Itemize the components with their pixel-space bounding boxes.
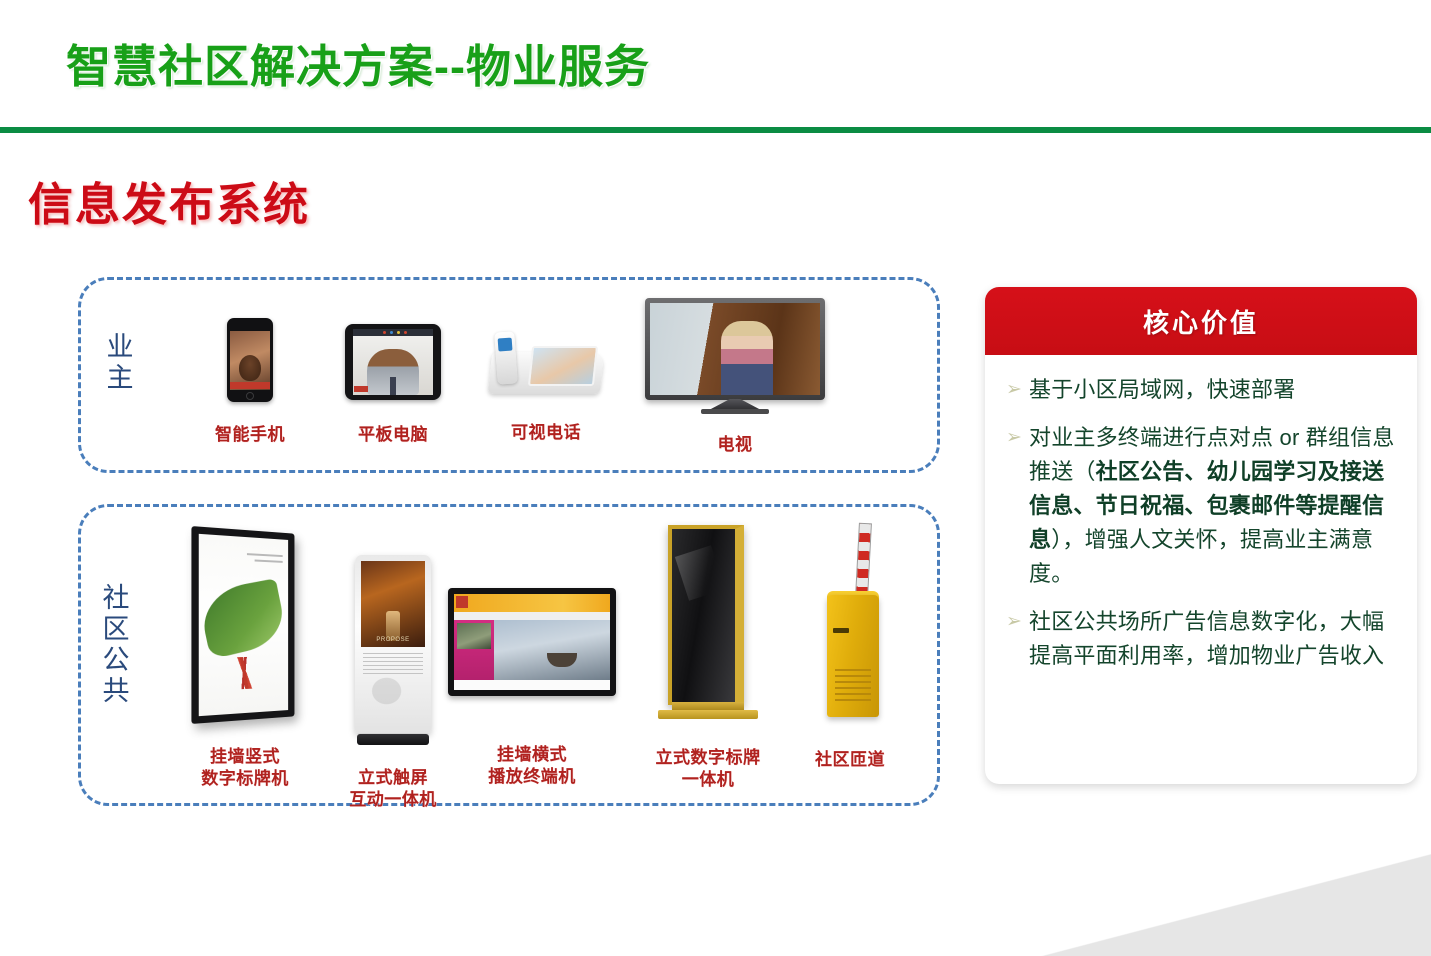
value-bullet-2: ➢ 对业主多终端进行点对点 or 群组信息推送（社区公告、幼儿园学习及接送信息、… bbox=[999, 421, 1395, 591]
television-icon bbox=[645, 298, 825, 414]
bullet-arrow-icon: ➢ bbox=[999, 373, 1029, 407]
device-videophone[interactable]: 可视电话 bbox=[482, 322, 610, 444]
corner-decoration bbox=[1011, 846, 1431, 956]
device-caption: 挂墙横式 播放终端机 bbox=[444, 744, 620, 788]
value-bullet-text: 对业主多终端进行点对点 or 群组信息推送（社区公告、幼儿园学习及接送信息、节日… bbox=[1029, 421, 1395, 591]
title-divider bbox=[0, 127, 1431, 133]
device-wall-vertical-signage[interactable]: 挂墙竖式 数字标牌机 bbox=[183, 530, 307, 790]
value-bullet-text: 基于小区局域网，快速部署 bbox=[1029, 373, 1395, 407]
bullet-arrow-icon: ➢ bbox=[999, 605, 1029, 639]
device-caption: 挂墙竖式 数字标牌机 bbox=[183, 746, 307, 790]
core-value-header: 核心价值 bbox=[985, 287, 1417, 355]
wall-horizontal-player-icon bbox=[448, 588, 616, 706]
bullet-arrow-icon: ➢ bbox=[999, 421, 1029, 455]
device-smartphone[interactable]: 智能手机 bbox=[196, 318, 304, 446]
smartphone-icon bbox=[227, 318, 273, 402]
videophone-icon bbox=[486, 322, 606, 400]
wall-vertical-signage-icon bbox=[186, 530, 304, 730]
device-caption: 电视 bbox=[645, 434, 825, 456]
core-value-body: ➢ 基于小区局域网，快速部署 ➢ 对业主多终端进行点对点 or 群组信息推送（社… bbox=[985, 355, 1417, 784]
device-television[interactable]: 电视 bbox=[645, 298, 825, 456]
device-caption: 平板电脑 bbox=[338, 424, 448, 446]
barrier-gate-icon bbox=[805, 525, 895, 725]
device-tablet[interactable]: 平板电脑 bbox=[338, 324, 448, 446]
device-caption: 可视电话 bbox=[482, 422, 610, 444]
slide-canvas: 智慧社区解决方案--物业服务 信息发布系统 业 主 智能手机 bbox=[0, 0, 1431, 956]
value-bullet-text: 社区公共场所广告信息数字化，大幅提高平面利用率，增加物业广告收入 bbox=[1029, 605, 1395, 673]
value-bullet-1: ➢ 基于小区局域网，快速部署 bbox=[999, 373, 1395, 407]
section-title: 信息发布系统 bbox=[28, 168, 310, 233]
tablet-icon bbox=[345, 324, 441, 400]
device-standing-digital-signage[interactable]: 立式数字标牌 一体机 bbox=[632, 525, 784, 791]
core-value-panel: 核心价值 ➢ 基于小区局域网，快速部署 ➢ 对业主多终端进行点对点 or 群组信… bbox=[985, 287, 1417, 784]
device-caption: 立式数字标牌 一体机 bbox=[632, 747, 784, 791]
value-bullet-3: ➢ 社区公共场所广告信息数字化，大幅提高平面利用率，增加物业广告收入 bbox=[999, 605, 1395, 673]
group-label-owner: 业 主 bbox=[100, 332, 140, 394]
page-title: 智慧社区解决方案--物业服务 bbox=[66, 30, 650, 95]
group-label-community-public: 社 区 公 共 bbox=[96, 583, 136, 707]
device-barrier-gate[interactable]: 社区匝道 bbox=[790, 525, 910, 771]
standing-touch-kiosk-icon: PROPOSE bbox=[355, 555, 431, 745]
device-wall-horizontal-player[interactable]: 挂墙横式 播放终端机 bbox=[444, 588, 620, 788]
device-caption: 立式触屏 互动一体机 bbox=[334, 767, 452, 811]
device-caption: 社区匝道 bbox=[790, 749, 910, 771]
core-value-title: 核心价值 bbox=[1143, 303, 1259, 340]
device-caption: 智能手机 bbox=[196, 424, 304, 446]
standing-digital-signage-icon bbox=[652, 525, 764, 725]
device-standing-touch-kiosk[interactable]: PROPOSE 立式触屏 互动一体机 bbox=[334, 555, 452, 811]
